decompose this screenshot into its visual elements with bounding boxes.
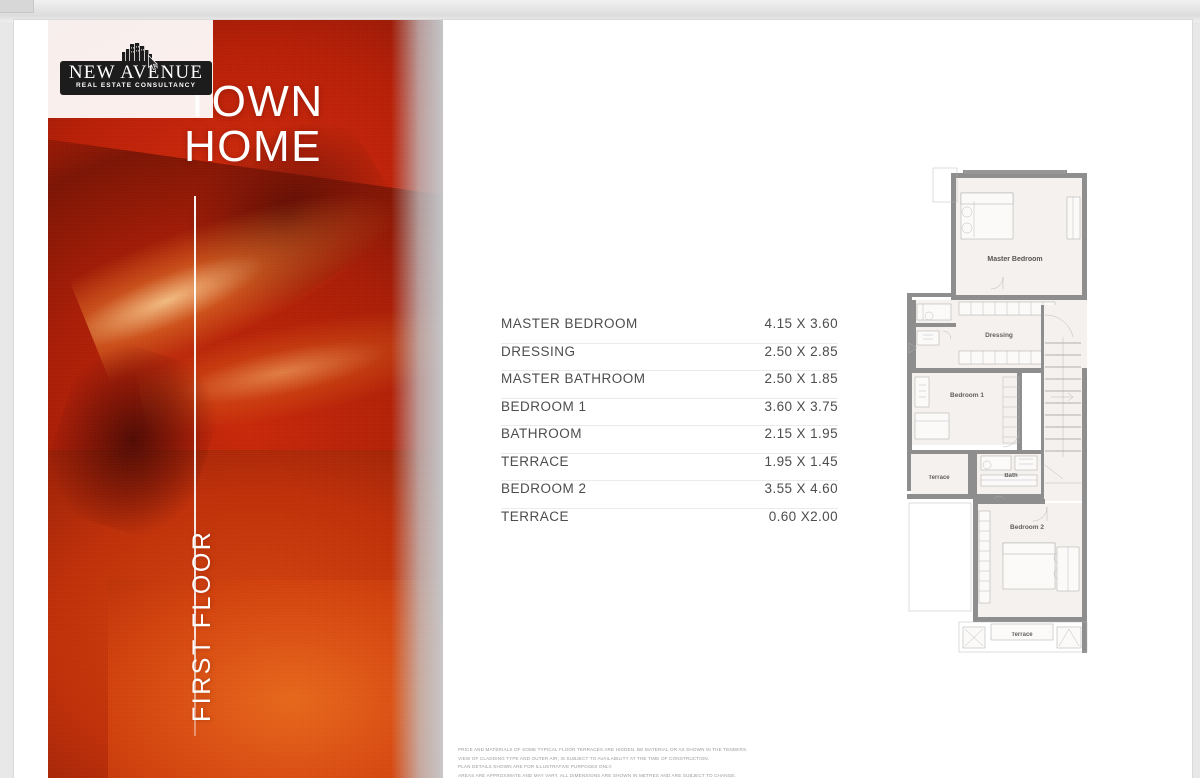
- room-dimensions: 0.60 X2.00: [769, 509, 838, 524]
- hero-title-line-2: HOME: [184, 125, 324, 170]
- svg-text:Bedroom 1: Bedroom 1: [950, 392, 984, 399]
- room-name: BEDROOM 1: [501, 399, 587, 414]
- table-row: MASTER BATHROOM 2.50 X 1.85: [501, 371, 838, 399]
- disclaimer-line-2: VIEW OF CLADDING TYPE AND OUTER AIR, IS …: [458, 755, 998, 763]
- brand-name: NEW AVENUE: [60, 62, 212, 83]
- room-dimensions: 2.15 X 1.95: [765, 426, 838, 441]
- brand-tagline: REAL ESTATE CONSULTANCY: [60, 82, 212, 89]
- room-schedule-table: MASTER BEDROOM 4.15 X 3.60 DRESSING 2.50…: [501, 316, 838, 536]
- svg-text:Terrace: Terrace: [1011, 632, 1033, 638]
- room-dimensions: 2.50 X 1.85: [765, 371, 838, 386]
- table-row: BEDROOM 2 3.55 X 4.60: [501, 481, 838, 509]
- room-dimensions: 2.50 X 2.85: [765, 344, 838, 359]
- hero-floor-label: FIRST FLOOR: [188, 530, 217, 722]
- table-row: MASTER BEDROOM 4.15 X 3.60: [501, 316, 838, 344]
- screenshot-viewport: TOWN HOME FIRST FLOOR: [0, 0, 1200, 778]
- room-name: DRESSING: [501, 344, 576, 359]
- document-page: TOWN HOME FIRST FLOOR: [14, 20, 1192, 778]
- disclaimer-text: PRICE AND MATERIALS OF SOME TYPICAL FLOO…: [458, 746, 998, 778]
- svg-text:Bath: Bath: [1004, 473, 1018, 479]
- room-dimensions: 4.15 X 3.60: [765, 316, 838, 331]
- disclaimer-line-1: PRICE AND MATERIALS OF SOME TYPICAL FLOO…: [458, 746, 998, 754]
- disclaimer-line-4: AREAS ARE APPROXIMATE AND MAY VARY. ALL …: [458, 772, 998, 778]
- svg-text:Terrace: Terrace: [928, 475, 950, 481]
- svg-text:Dressing: Dressing: [985, 332, 1013, 339]
- room-dimensions: 3.55 X 4.60: [765, 481, 838, 496]
- svg-text:Bedroom 2: Bedroom 2: [1010, 524, 1044, 531]
- room-dimensions: 3.60 X 3.75: [765, 399, 838, 414]
- table-row: TERRACE 0.60 X2.00: [501, 509, 838, 537]
- table-row: BATHROOM 2.15 X 1.95: [501, 426, 838, 454]
- room-name: BEDROOM 2: [501, 481, 587, 496]
- room-name: TERRACE: [501, 509, 569, 524]
- brand-logo[interactable]: NEW AVENUE REAL ESTATE CONSULTANCY: [60, 43, 212, 95]
- room-name: BATHROOM: [501, 426, 582, 441]
- disclaimer-line-3: PLAN DETAILS SHOWN ARE FOR ILLUSTRATIVE …: [458, 763, 998, 771]
- room-name: MASTER BEDROOM: [501, 316, 638, 331]
- room-name: TERRACE: [501, 454, 569, 469]
- floor-plan-drawing: .wl { fill:#8e8e8e; } .rm { fill:#f4f1ee…: [899, 165, 1099, 665]
- svg-text:Master Bedroom: Master Bedroom: [987, 256, 1042, 263]
- table-row: DRESSING 2.50 X 2.85: [501, 344, 838, 372]
- viewer-tab[interactable]: [0, 0, 34, 13]
- table-row: BEDROOM 1 3.60 X 3.75: [501, 399, 838, 427]
- room-name: MASTER BATHROOM: [501, 371, 646, 386]
- table-row: TERRACE 1.95 X 1.45: [501, 454, 838, 482]
- viewer-top-band: [0, 0, 1200, 16]
- room-dimensions: 1.95 X 1.45: [765, 454, 838, 469]
- hero-image-panel: TOWN HOME FIRST FLOOR: [48, 20, 443, 778]
